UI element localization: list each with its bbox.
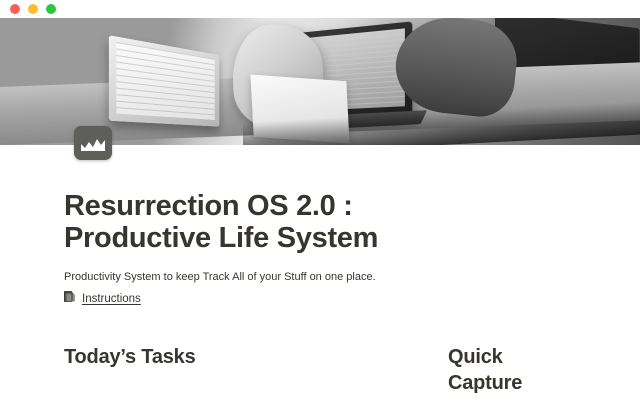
window-titlebar bbox=[0, 0, 640, 18]
instructions-page-link[interactable]: Instructions bbox=[0, 285, 205, 306]
traffic-light-group bbox=[10, 4, 56, 14]
quick-capture-heading[interactable]: Quick Capture bbox=[448, 344, 534, 396]
minimize-window-button[interactable] bbox=[28, 4, 38, 14]
notebook-icon bbox=[64, 291, 75, 306]
page-subtitle[interactable]: Productivity System to keep Track All of… bbox=[0, 255, 640, 286]
column-quick-capture: Quick Capture bbox=[392, 344, 640, 396]
content-columns: Today’s Tasks Quick Capture bbox=[0, 306, 640, 396]
column-todays-tasks: Today’s Tasks bbox=[0, 344, 392, 396]
close-window-button[interactable] bbox=[10, 4, 20, 14]
instructions-link-label: Instructions bbox=[82, 293, 141, 305]
page-title[interactable]: Resurrection OS 2.0 : Productive Life Sy… bbox=[0, 145, 520, 255]
todays-tasks-heading[interactable]: Today’s Tasks bbox=[64, 344, 392, 370]
maximize-window-button[interactable] bbox=[46, 4, 56, 14]
page-content: Resurrection OS 2.0 : Productive Life Sy… bbox=[0, 145, 640, 396]
